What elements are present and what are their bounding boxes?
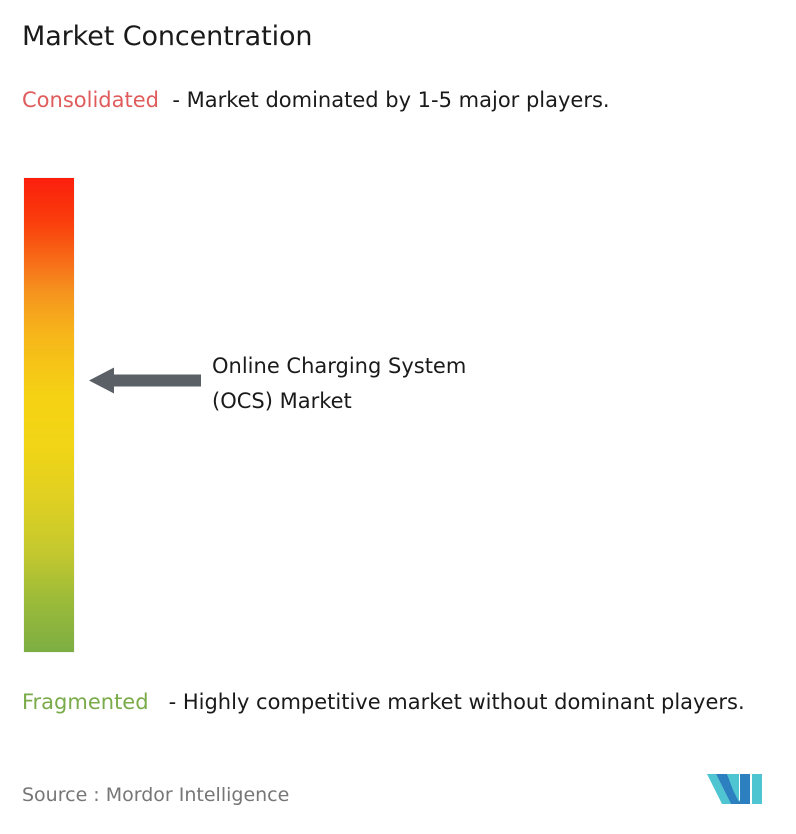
market-concentration-chart: Market Concentration Consolidated - Mark… (0, 0, 796, 834)
legend-term-consolidated: Consolidated (22, 88, 159, 112)
legend-fragmented: Fragmented - Highly competitive market w… (22, 687, 787, 718)
concentration-gradient-bar (24, 178, 74, 652)
legend-description-fragmented: - Highly competitive market without domi… (169, 690, 745, 714)
market-marker-label: Online Charging System (OCS) Market (212, 349, 642, 419)
legend-description-consolidated: - Market dominated by 1-5 major players. (172, 88, 609, 112)
mordor-intelligence-logo-icon (707, 768, 769, 810)
left-arrow-icon (89, 366, 201, 395)
source-note: Source : Mordor Intelligence (22, 783, 289, 807)
legend-term-fragmented: Fragmented (22, 690, 149, 714)
market-marker-label-line-2: (OCS) Market (212, 384, 642, 419)
legend-consolidated: Consolidated - Market dominated by 1-5 m… (22, 85, 782, 116)
market-pointer-arrow (89, 366, 201, 395)
market-marker-label-line-1: Online Charging System (212, 349, 642, 384)
brand-logo (707, 768, 769, 810)
page-title: Market Concentration (22, 20, 312, 54)
